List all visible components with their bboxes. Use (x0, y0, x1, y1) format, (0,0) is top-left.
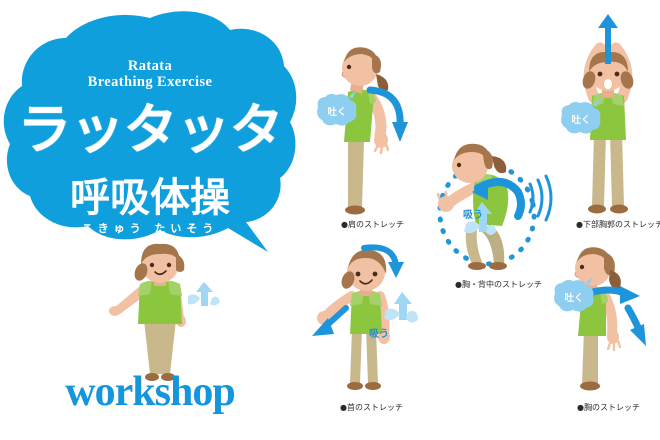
breath-puff-icon (384, 292, 418, 323)
breath-bubble-exhale-1: 吐く (316, 92, 358, 130)
breath-puff-icon (188, 282, 220, 306)
breath-label-exhale: 吐く (560, 100, 602, 138)
caption-lower-thorax-stretch: ●下部胸郭のストレッチ (576, 219, 660, 230)
caption-neck-stretch: ●首のストレッチ (340, 402, 403, 413)
breath-label-exhale: 吐く (316, 92, 358, 130)
caption-chest-back-stretch: ●胸・背中のストレッチ (455, 279, 542, 290)
figure-shoulder-stretch (318, 48, 448, 223)
logo-furigana: こきゅう たいそう (0, 220, 300, 236)
logo-english-title: Ratata Breathing Exercise (0, 58, 300, 90)
motion-arrow-down-icon (628, 308, 646, 346)
figure-chest-back-stretch (432, 140, 562, 280)
figure-chest-stretch (548, 250, 660, 400)
caption-chest-stretch: ●胸のストレッチ (577, 402, 640, 413)
poster-canvas: Ratata Breathing Exercise ラッタッタ 呼吸体操 こきゅ… (0, 0, 660, 440)
breath-bubble-exhale-2: 吐く (560, 100, 602, 138)
workshop-wordmark: workshop (0, 370, 300, 414)
breath-label-exhale: 吐く (553, 278, 595, 316)
mascot-figure (100, 248, 220, 388)
breath-label-inhale-neck: 吸う (369, 325, 389, 340)
breath-bubble-exhale-3: 吐く (553, 278, 595, 316)
logo-kanji-title: 呼吸体操 (0, 176, 300, 220)
logo-katakana-title: ラッタッタ (0, 100, 300, 160)
figure-neck-stretch (302, 250, 432, 400)
caption-shoulder-stretch: ●肩のストレッチ (341, 219, 404, 230)
breath-label-inhale-middle: 吸う (463, 206, 483, 221)
motion-lines-icon (530, 176, 551, 220)
